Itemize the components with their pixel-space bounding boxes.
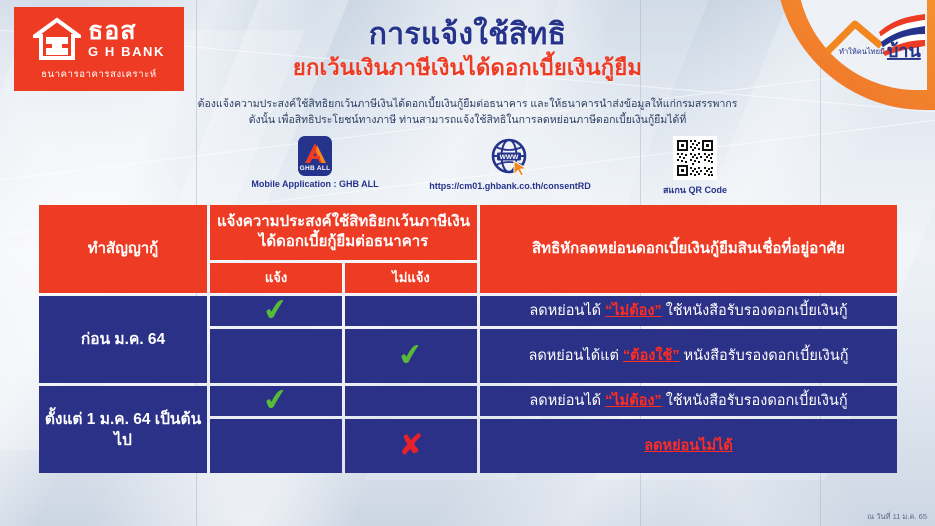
header-notify-no: ไม่แจ้ง [345, 263, 477, 293]
app-icon-label: GHB ALL [298, 165, 332, 172]
page-subtitle: ยกเว้นเงินภาษีเงินได้ดอกเบี้ยเงินกู้ยืม [0, 50, 935, 85]
cell-notify-no: ✔ [345, 329, 477, 383]
result-text-post: หนังสือรับรองดอกเบี้ยเงินกู้ [680, 348, 849, 364]
channel-caption: https://cm01.ghbank.co.th/consentRD [400, 181, 620, 191]
cell-deduction-result: ลดหย่อนได้ “ไม่ต้อง” ใช้หนังสือรับรองดอก… [480, 296, 897, 326]
channel-caption: Mobile Application : GHB ALL [230, 179, 400, 189]
rights-table: ทำสัญญากู้ แจ้งความประสงค์ใช้สิทธิยกเว้น… [36, 202, 900, 476]
channel-website[interactable]: WWW https://cm01.ghbank.co.th/consentRD [400, 136, 620, 191]
cell-notify-yes: ✔ [210, 386, 342, 416]
page-description: ต้องแจ้งความประสงค์ใช้สิทธิยกเว้นภาษีเงิ… [130, 96, 805, 128]
qr-code-icon[interactable] [673, 136, 717, 180]
cell-notify-yes: ✔ [210, 296, 342, 326]
header-notify-yes: แจ้ง [210, 263, 342, 293]
check-icon: ✔ [261, 384, 290, 417]
table-header-row: ทำสัญญากู้ แจ้งความประสงค์ใช้สิทธิยกเว้น… [39, 205, 897, 260]
cell-deduction-result: ลดหย่อนได้แต่ “ต้องใช้” หนังสือรับรองดอก… [480, 329, 897, 383]
channels-row: GHB ALL Mobile Application : GHB ALL WWW… [230, 136, 760, 198]
check-icon: ✔ [396, 339, 425, 372]
result-highlight: “ไม่ต้อง” [605, 303, 662, 319]
result-text-pre: ลดหย่อนได้ [529, 393, 605, 409]
channel-caption: สแกน QR Code [620, 183, 770, 197]
table-row: ก่อน ม.ค. 64 ✔ ลดหย่อนได้ “ไม่ต้อง” ใช้ห… [39, 296, 897, 326]
result-text-post: ใช้หนังสือรับรองดอกเบี้ยเงินกู้ [662, 393, 848, 409]
header-notify-group: แจ้งความประสงค์ใช้สิทธิยกเว้นภาษีเงินได้… [210, 205, 477, 260]
description-line-2: ดังนั้น เพื่อสิทธิประโยชน์ทางภาษี ท่านสา… [130, 112, 805, 128]
result-highlight: “ไม่ต้อง” [605, 393, 662, 409]
result-highlight: “ต้องใช้” [623, 348, 680, 364]
infographic-poster: ธอส G H BANK ธนาคารอาคารสงเคราะห์ ทำให้ค… [0, 0, 935, 526]
ghb-all-app-icon[interactable]: GHB ALL [298, 136, 332, 176]
cell-notify-no [345, 296, 477, 326]
channel-mobile-app[interactable]: GHB ALL Mobile Application : GHB ALL [230, 136, 400, 189]
cell-deduction-result: ลดหย่อนได้ “ไม่ต้อง” ใช้หนังสือรับรองดอก… [480, 386, 897, 416]
result-text-post: ใช้หนังสือรับรองดอกเบี้ยเงินกู้ [662, 303, 848, 319]
check-icon: ✔ [261, 294, 290, 327]
header-deduction: สิทธิหักลดหย่อนดอกเบี้ยเงินกู้ยืมสินเชื่… [480, 205, 897, 293]
row-period-label: ตั้งแต่ 1 ม.ค. 64 เป็นต้นไป [39, 386, 207, 473]
header-contract: ทำสัญญากู้ [39, 205, 207, 293]
cell-notify-yes [210, 329, 342, 383]
table-row: ตั้งแต่ 1 ม.ค. 64 เป็นต้นไป ✔ ลดหย่อนได้… [39, 386, 897, 416]
cross-icon: ✘ [398, 431, 423, 461]
cell-notify-yes [210, 419, 342, 473]
result-highlight: ลดหย่อนไม่ได้ [644, 438, 733, 454]
cell-notify-no: ✘ [345, 419, 477, 473]
description-line-1: ต้องแจ้งความประสงค์ใช้สิทธิยกเว้นภาษีเงิ… [130, 96, 805, 112]
date-stamp: ณ วันที่ 11 ม.ค. 65 [867, 511, 927, 523]
row-period-label: ก่อน ม.ค. 64 [39, 296, 207, 383]
cell-deduction-result: ลดหย่อนไม่ได้ [480, 419, 897, 473]
globe-www-cursor-icon[interactable]: WWW [489, 136, 531, 178]
cell-notify-no [345, 386, 477, 416]
result-text-pre: ลดหย่อนได้ [529, 303, 605, 319]
channel-qr-code[interactable]: สแกน QR Code [620, 136, 770, 197]
www-label: WWW [500, 154, 519, 161]
result-text-pre: ลดหย่อนได้แต่ [528, 348, 622, 364]
